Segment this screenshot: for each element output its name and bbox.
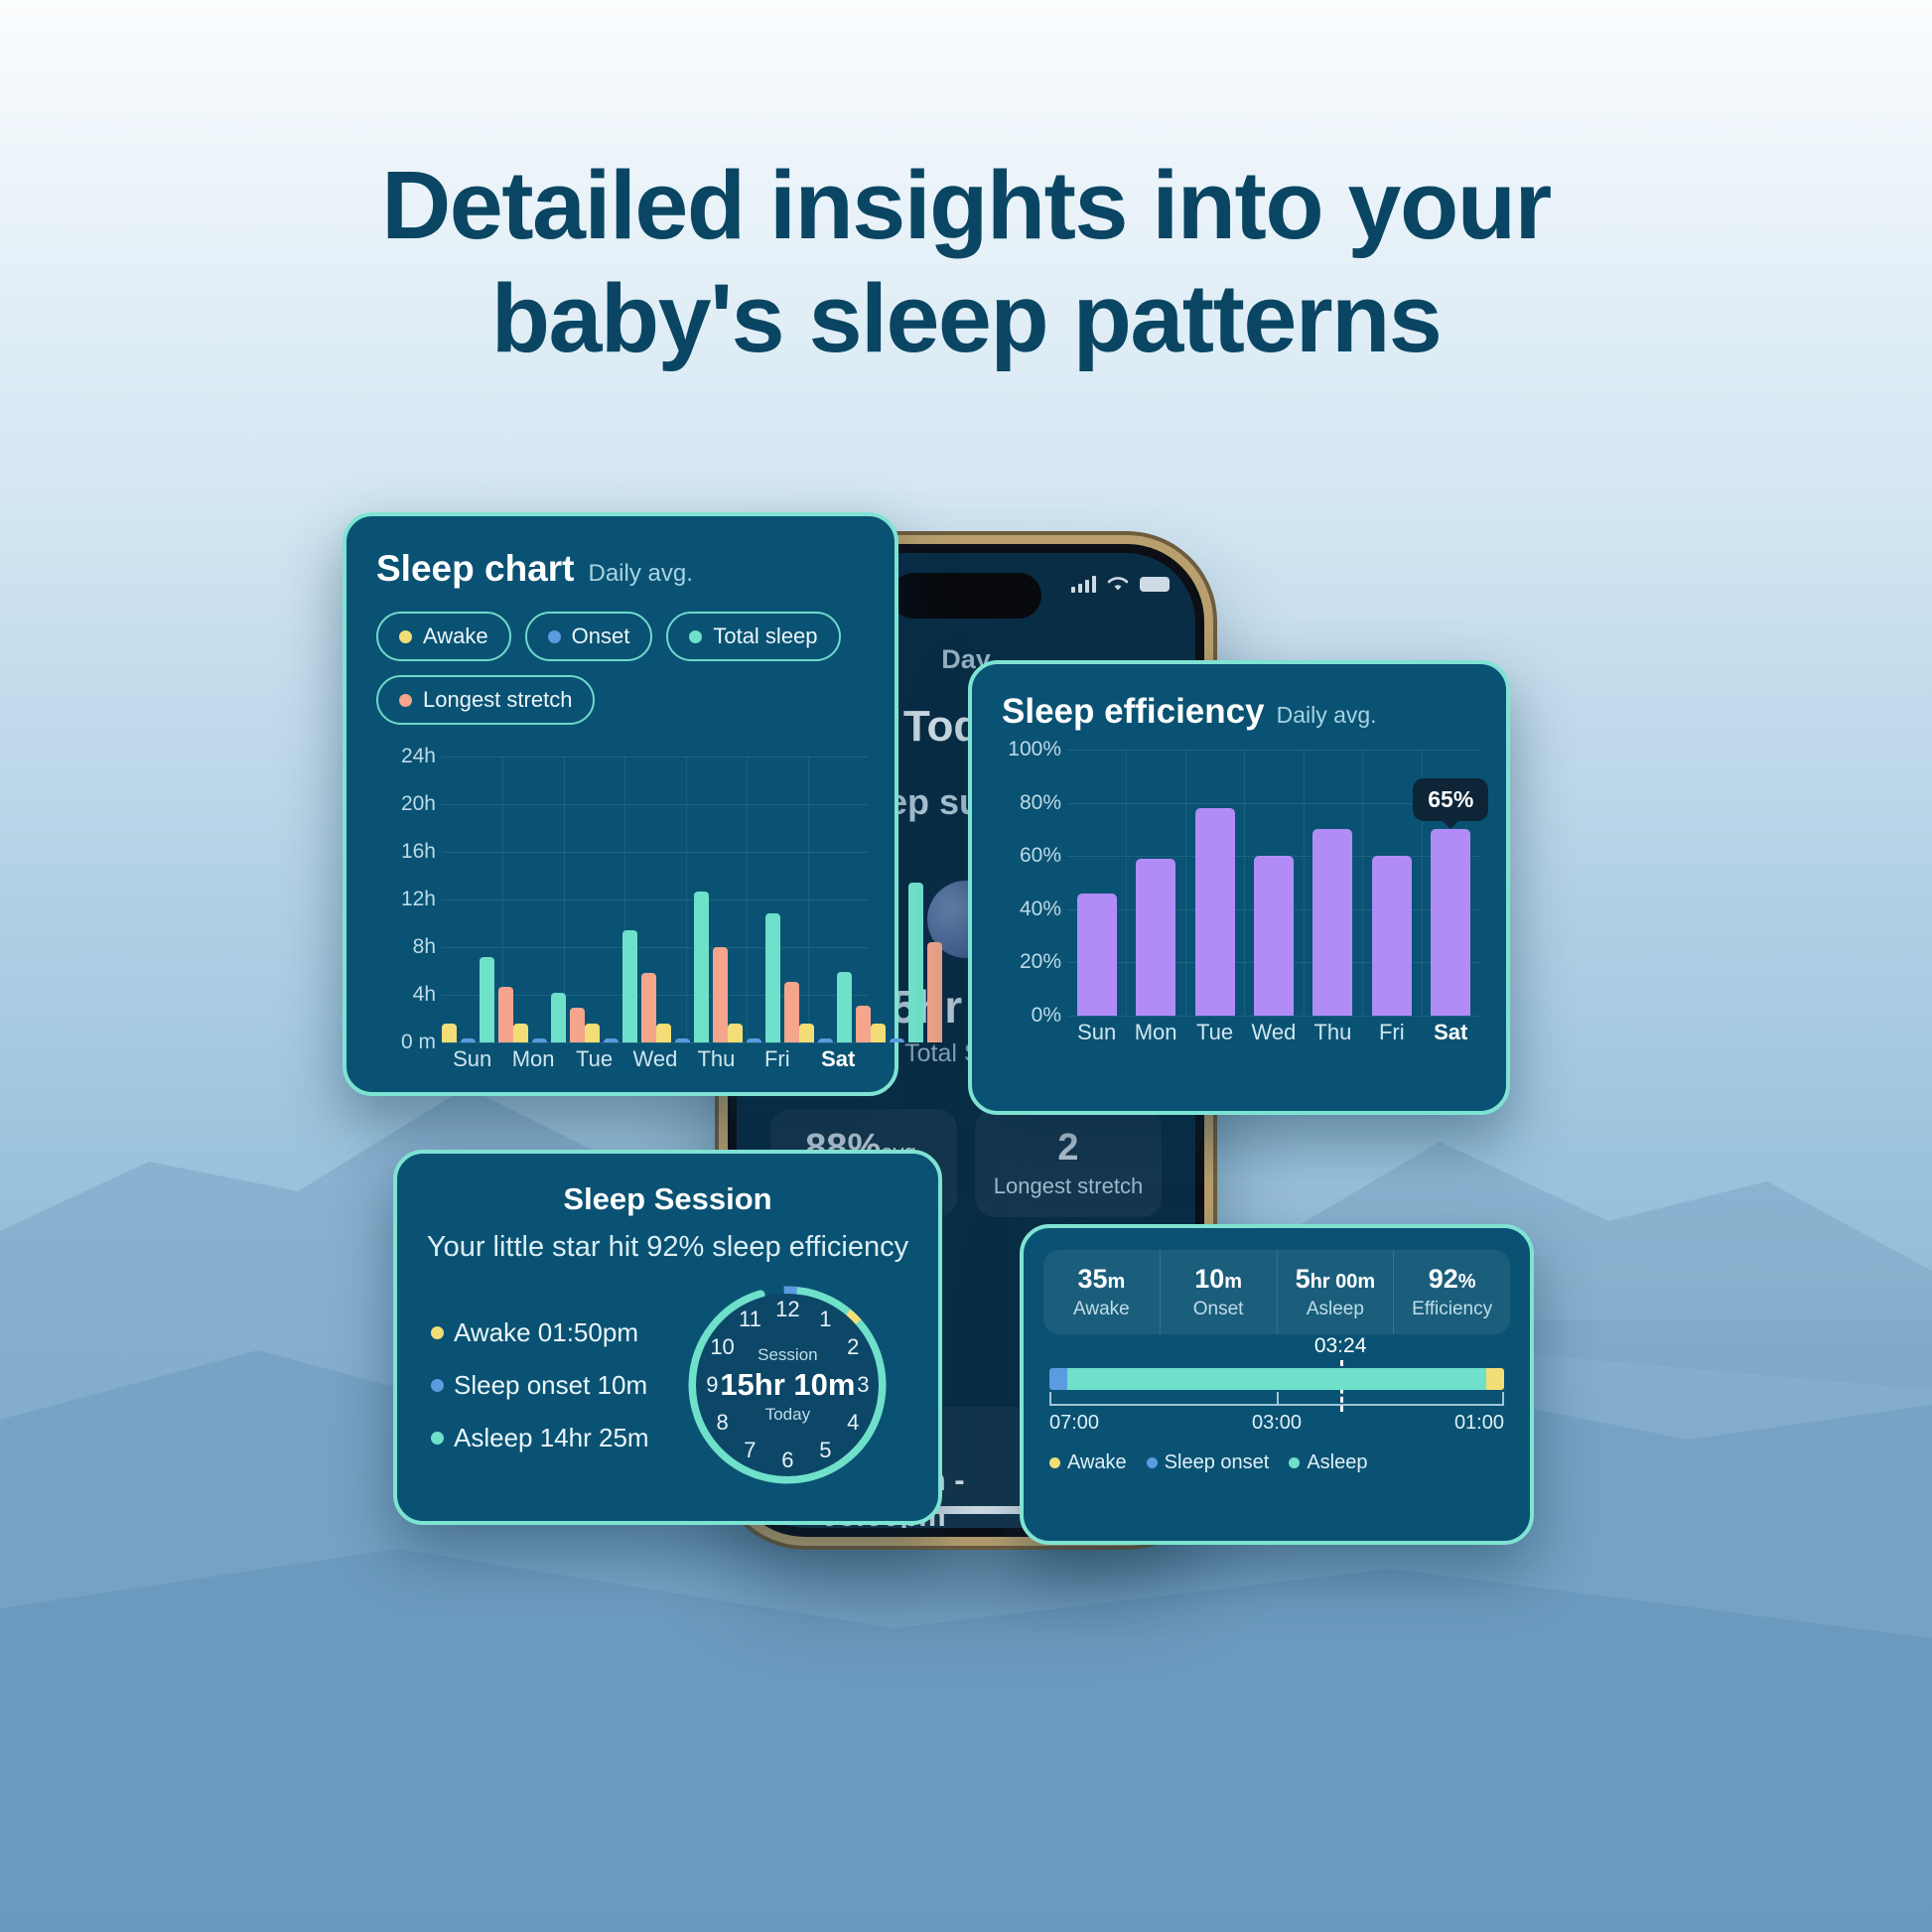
sleep-chart-subtitle: Daily avg.: [588, 560, 692, 588]
timeline-axis-label: 07:00: [1049, 1412, 1099, 1435]
timeline-wrap: 03:24 07:0003:0001:00: [1049, 1368, 1504, 1438]
bar-thu: [1312, 829, 1352, 1016]
stat-asleep: 5hr 00mAsleep: [1278, 1250, 1395, 1334]
dial-center: Session 15hr 10m Today: [713, 1345, 862, 1425]
stat-efficiency: 92%Efficiency: [1394, 1250, 1510, 1334]
bar-group-sat[interactable]: [871, 757, 942, 1042]
sleep-chart-plot-area: [442, 757, 869, 1042]
timeline-segment-asleep: [1067, 1368, 1485, 1390]
legend-dot-icon: [399, 694, 412, 707]
legend-chip-longest-stretch[interactable]: Longest stretch: [376, 675, 595, 725]
x-tick-wed: Wed: [1244, 1016, 1303, 1057]
bar-total-sleep: [765, 913, 780, 1042]
signal-bars-icon: [1071, 576, 1096, 593]
y-tick-label: 24h: [401, 745, 436, 768]
bar-awake: [513, 1024, 528, 1042]
x-tick-sat: Sat: [1422, 1016, 1480, 1057]
stat-unit: m: [1224, 1271, 1242, 1293]
bar-sat: [1431, 829, 1470, 1016]
stat-value: 10m: [1165, 1264, 1273, 1295]
sleep-chart-legend: AwakeOnsetTotal sleepLongest stretch: [346, 590, 853, 725]
stats-row: 35mAwake10mOnset5hr 00mAsleep92%Efficien…: [1043, 1250, 1510, 1334]
sleep-chart-card: Sleep chart Daily avg. AwakeOnsetTotal s…: [343, 512, 898, 1096]
timeline-legend-label: Asleep: [1307, 1451, 1367, 1474]
bar-total-sleep: [694, 892, 709, 1042]
sleep-chart-title: Sleep chart: [376, 548, 574, 590]
x-tick-fri: Fri: [1362, 1016, 1421, 1057]
session-legend: Awake 01:50pmSleep onset 10mAsleep 14hr …: [397, 1296, 678, 1475]
bar-group-tue[interactable]: [1185, 750, 1244, 1016]
timeline-legend-item: Sleep onset: [1147, 1451, 1270, 1474]
bar-longest-stretch: [570, 1008, 585, 1042]
bar-total-sleep: [551, 993, 566, 1042]
bar-group-sun[interactable]: [442, 757, 513, 1042]
timeline-axis-labels: 07:0003:0001:00: [1049, 1412, 1504, 1438]
x-tick-thu: Thu: [686, 1042, 747, 1084]
legend-dot-icon: [548, 630, 561, 643]
legend-chip-total-sleep[interactable]: Total sleep: [666, 612, 840, 661]
stat-value: 92%: [1398, 1264, 1506, 1295]
phone-longest-value: 2: [1057, 1127, 1078, 1169]
dial-hour-1: 1: [819, 1307, 831, 1332]
dial-hour-11: 11: [739, 1307, 761, 1332]
y-tick-label: 12h: [401, 888, 436, 911]
x-tick-sun: Sun: [442, 1042, 502, 1084]
wifi-icon: [1106, 575, 1130, 593]
sleep-chart-header: Sleep chart Daily avg.: [346, 516, 895, 590]
bar-longest-stretch: [784, 982, 799, 1042]
y-tick-label: 80%: [1020, 791, 1061, 815]
phone-longest-label: Longest stretch: [985, 1173, 1152, 1199]
bar-tue: [1195, 808, 1235, 1016]
y-tick-label: 16h: [401, 840, 436, 864]
bar-awake: [442, 1024, 457, 1042]
legend-chip-label: Total sleep: [713, 623, 817, 649]
x-tick-mon: Mon: [502, 1042, 563, 1084]
session-legend-item: Asleep 14hr 25m: [431, 1423, 678, 1453]
session-dial: 121234567891011 Session 15hr 10m Today: [684, 1282, 891, 1488]
x-tick-thu: Thu: [1304, 1016, 1362, 1057]
sleep-efficiency-card: Sleep efficiency Daily avg. 0%20%40%60%8…: [968, 660, 1510, 1115]
x-tick-tue: Tue: [564, 1042, 624, 1084]
stat-awake: 35mAwake: [1043, 1250, 1161, 1334]
sleep-chart-x-axis: SunMonTueWedThuFriSat: [442, 1042, 869, 1084]
bar-group-wed[interactable]: [1244, 750, 1303, 1016]
stat-label: Efficiency: [1398, 1299, 1506, 1320]
y-tick-label: 8h: [413, 935, 436, 959]
legend-dot-icon: [399, 630, 412, 643]
legend-chip-label: Longest stretch: [423, 687, 572, 713]
status-bar: [1071, 575, 1170, 593]
bar-group-tue[interactable]: [585, 757, 656, 1042]
timeline-segment-awake: [1486, 1368, 1504, 1390]
bar-group-fri[interactable]: [799, 757, 871, 1042]
session-legend-label: Awake 01:50pm: [454, 1317, 638, 1348]
timeline-legend-item: Asleep: [1289, 1451, 1367, 1474]
legend-chip-label: Onset: [572, 623, 630, 649]
x-tick-tue: Tue: [1185, 1016, 1244, 1057]
timeline-legend-label: Awake: [1067, 1451, 1127, 1474]
x-tick-mon: Mon: [1126, 1016, 1184, 1057]
x-tick-sat: Sat: [808, 1042, 869, 1084]
bar-longest-stretch: [713, 947, 728, 1042]
efficiency-title: Sleep efficiency: [1002, 692, 1265, 732]
dial-hour-12: 12: [775, 1297, 799, 1322]
dial-hour-7: 7: [744, 1438, 756, 1463]
y-tick-label: 0 m: [401, 1031, 436, 1054]
bar-mon: [1136, 859, 1175, 1016]
bar-awake: [585, 1024, 600, 1042]
timeline-segment-sleep-onset: [1049, 1368, 1067, 1390]
x-tick-fri: Fri: [747, 1042, 807, 1084]
headline-line-2: baby's sleep patterns: [0, 262, 1932, 375]
phone-stat-longest-stretch: 2 Longest stretch: [975, 1109, 1162, 1217]
timeline-axis-label: 01:00: [1454, 1412, 1504, 1435]
efficiency-tooltip: 65%: [1413, 778, 1488, 821]
bar-group-mon[interactable]: [513, 757, 585, 1042]
y-tick-label: 20%: [1020, 950, 1061, 974]
phone-notch: [891, 573, 1041, 619]
sleep-chart-y-axis: 0 m4h8h12h16h20h24h: [368, 757, 436, 1042]
stat-onset: 10mOnset: [1161, 1250, 1278, 1334]
stat-label: Onset: [1165, 1299, 1273, 1320]
session-legend-label: Sleep onset 10m: [454, 1370, 647, 1401]
stat-label: Awake: [1047, 1299, 1156, 1320]
timeline-legend: AwakeSleep onsetAsleep: [1049, 1451, 1504, 1474]
legend-dot-icon: [431, 1326, 444, 1339]
legend-dot-icon: [1049, 1457, 1060, 1468]
dial-caption: Session: [713, 1345, 862, 1365]
y-tick-label: 60%: [1020, 844, 1061, 868]
bar-longest-stretch: [498, 987, 513, 1042]
stat-unit: hr 00m: [1311, 1271, 1376, 1293]
timeline-axis-label: 03:00: [1252, 1412, 1302, 1435]
bar-onset: [890, 1038, 904, 1042]
session-stats-card: 35mAwake10mOnset5hr 00mAsleep92%Efficien…: [1020, 1224, 1534, 1545]
legend-dot-icon: [689, 630, 702, 643]
efficiency-header: Sleep efficiency Daily avg.: [972, 664, 1506, 732]
bar-longest-stretch: [856, 1006, 871, 1042]
bar-awake: [871, 1024, 886, 1042]
bar-group-mon[interactable]: [1126, 750, 1184, 1016]
y-tick-label: 20h: [401, 792, 436, 816]
stat-label: Asleep: [1282, 1299, 1390, 1320]
bar-longest-stretch: [641, 973, 656, 1042]
battery-icon: [1140, 577, 1170, 592]
session-title: Sleep Session: [397, 1154, 938, 1217]
efficiency-plot: 0%20%40%60%80%100% 65% SunMonTueWedThuFr…: [972, 750, 1506, 1057]
efficiency-plot-area: 65%: [1067, 750, 1480, 1016]
bar-total-sleep: [622, 930, 637, 1042]
efficiency-y-axis: 0%20%40%60%80%100%: [994, 750, 1061, 1016]
stat-unit: m: [1108, 1271, 1126, 1293]
bar-group-wed[interactable]: [656, 757, 728, 1042]
sleep-chart-plot: 0 m4h8h12h16h20h24h SunMonTueWedThuFriSa…: [346, 757, 895, 1084]
timeline-axis: [1049, 1392, 1504, 1406]
bar-fri: [1372, 856, 1412, 1016]
timeline-legend-label: Sleep onset: [1165, 1451, 1270, 1474]
timeline-bar: [1049, 1368, 1504, 1390]
bar-awake: [656, 1024, 671, 1042]
efficiency-subtitle: Daily avg.: [1277, 702, 1377, 729]
session-body: Awake 01:50pmSleep onset 10mAsleep 14hr …: [397, 1264, 938, 1488]
bar-total-sleep: [837, 972, 852, 1042]
y-tick-label: 0%: [1032, 1004, 1061, 1028]
y-tick-label: 40%: [1020, 897, 1061, 921]
legend-dot-icon: [1147, 1457, 1158, 1468]
legend-dot-icon: [431, 1432, 444, 1445]
bar-awake: [799, 1024, 814, 1042]
stat-value: 35m: [1047, 1264, 1156, 1295]
dial-footer: Today: [713, 1405, 862, 1425]
session-subtitle: Your little star hit 92% sleep efficienc…: [397, 1217, 938, 1264]
bar-longest-stretch: [927, 942, 942, 1042]
bar-group-thu[interactable]: [728, 757, 799, 1042]
headline-line-1: Detailed insights into your: [0, 149, 1932, 262]
y-tick-label: 100%: [1008, 738, 1061, 761]
dial-hour-6: 6: [781, 1448, 793, 1473]
timeline-marker-label: 03:24: [1314, 1334, 1367, 1358]
dial-value: 15hr 10m: [713, 1367, 862, 1403]
x-tick-sun: Sun: [1067, 1016, 1126, 1057]
stat-value: 5hr 00m: [1282, 1264, 1390, 1295]
session-legend-item: Sleep onset 10m: [431, 1370, 678, 1401]
legend-chip-awake[interactable]: Awake: [376, 612, 511, 661]
bar-wed: [1254, 856, 1294, 1016]
dial-hour-5: 5: [819, 1438, 831, 1463]
efficiency-x-axis: SunMonTueWedThuFriSat: [1067, 1016, 1480, 1057]
legend-dot-icon: [431, 1379, 444, 1392]
bar-group-thu[interactable]: [1304, 750, 1362, 1016]
bar-group-sun[interactable]: [1067, 750, 1126, 1016]
session-legend-label: Asleep 14hr 25m: [454, 1423, 649, 1453]
stat-unit: %: [1458, 1271, 1476, 1293]
bar-awake: [728, 1024, 743, 1042]
bar-total-sleep: [480, 957, 494, 1042]
legend-dot-icon: [1289, 1457, 1300, 1468]
bar-sun: [1077, 894, 1117, 1016]
page-headline: Detailed insights into your baby's sleep…: [0, 149, 1932, 376]
x-tick-wed: Wed: [624, 1042, 685, 1084]
y-tick-label: 4h: [413, 983, 436, 1007]
bar-total-sleep: [908, 883, 923, 1042]
timeline-legend-item: Awake: [1049, 1451, 1127, 1474]
sleep-session-card: Sleep Session Your little star hit 92% s…: [393, 1150, 942, 1525]
legend-chip-onset[interactable]: Onset: [525, 612, 653, 661]
legend-chip-label: Awake: [423, 623, 488, 649]
session-legend-item: Awake 01:50pm: [431, 1317, 678, 1348]
